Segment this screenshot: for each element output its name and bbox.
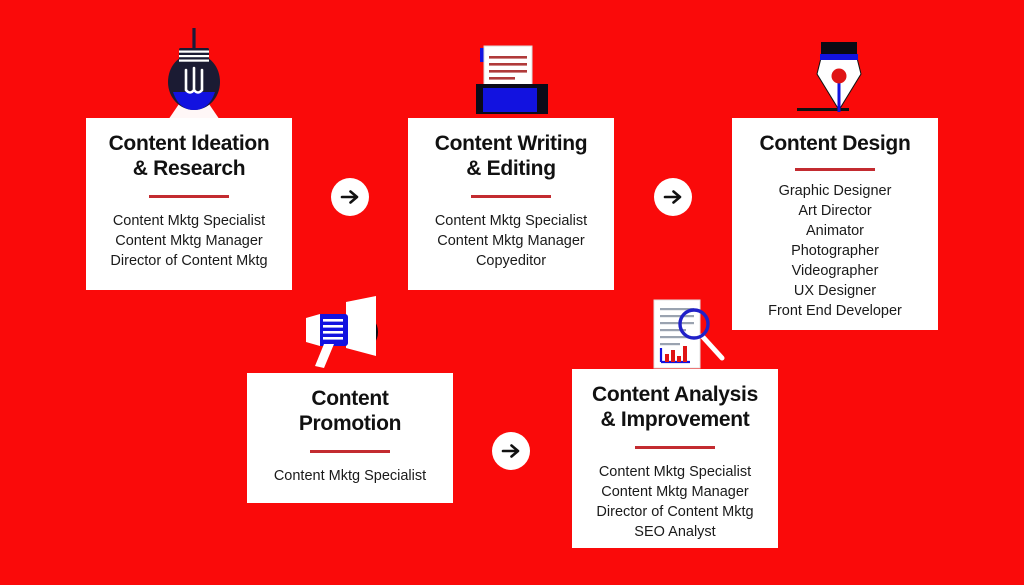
card-title: Content Ideation & Research [96,132,282,182]
list-item: Photographer [742,241,928,261]
arrow-ideation-to-writing[interactable] [331,178,369,216]
list-item: SEO Analyst [582,522,768,542]
list-item: Content Mktg Manager [418,231,604,251]
arrow-right-icon [662,186,684,208]
pen-nib-icon [793,32,885,124]
list-item: Director of Content Mktg [582,502,768,522]
lightbulb-icon [148,22,240,124]
list-item: Graphic Designer [742,181,928,201]
list-item: Content Mktg Manager [96,231,282,251]
card-title: Content Writing & Editing [418,132,604,182]
card-divider [149,195,229,198]
role-list: Content Mktg Specialist Content Mktg Man… [418,211,604,271]
stage-card-content-ideation-research[interactable]: Content Ideation & Research Content Mktg… [86,118,292,290]
document-folder-icon [472,44,552,116]
list-item: Content Mktg Specialist [418,211,604,231]
list-item: Front End Developer [742,301,928,321]
list-item: Content Mktg Specialist [582,462,768,482]
list-item: Animator [742,221,928,241]
card-title: Content Design [742,132,928,157]
arrow-right-icon [500,440,522,462]
card-title: Content Analysis & Improvement [582,383,768,433]
list-item: Art Director [742,201,928,221]
card-divider [471,195,551,198]
role-list: Graphic Designer Art Director Animator P… [742,181,928,321]
stage-card-content-promotion[interactable]: Content Promotion Content Mktg Specialis… [247,373,453,503]
infographic-canvas: Content Ideation & Research Content Mktg… [0,0,1024,585]
megaphone-icon [294,294,394,374]
card-title: Content Promotion [257,387,443,437]
list-item: Content Mktg Manager [582,482,768,502]
role-list: Content Mktg Specialist Content Mktg Man… [582,462,768,542]
role-list: Content Mktg Specialist Content Mktg Man… [96,211,282,271]
list-item: Videographer [742,261,928,281]
list-item: Copyeditor [418,251,604,271]
list-item: Director of Content Mktg [96,251,282,271]
stage-card-content-design[interactable]: Content Design Graphic Designer Art Dire… [732,118,938,330]
stage-card-content-writing-editing[interactable]: Content Writing & Editing Content Mktg S… [408,118,614,290]
card-divider [635,446,715,449]
role-list: Content Mktg Specialist [257,466,443,486]
card-divider [310,450,390,453]
arrow-right-icon [339,186,361,208]
card-divider [795,168,875,171]
arrow-promotion-to-analysis[interactable] [492,432,530,470]
list-item: Content Mktg Specialist [257,466,443,486]
list-item: UX Designer [742,281,928,301]
list-item: Content Mktg Specialist [96,211,282,231]
analytics-report-icon [646,296,734,376]
stage-card-content-analysis-improvement[interactable]: Content Analysis & Improvement Content M… [572,369,778,548]
arrow-writing-to-design[interactable] [654,178,692,216]
